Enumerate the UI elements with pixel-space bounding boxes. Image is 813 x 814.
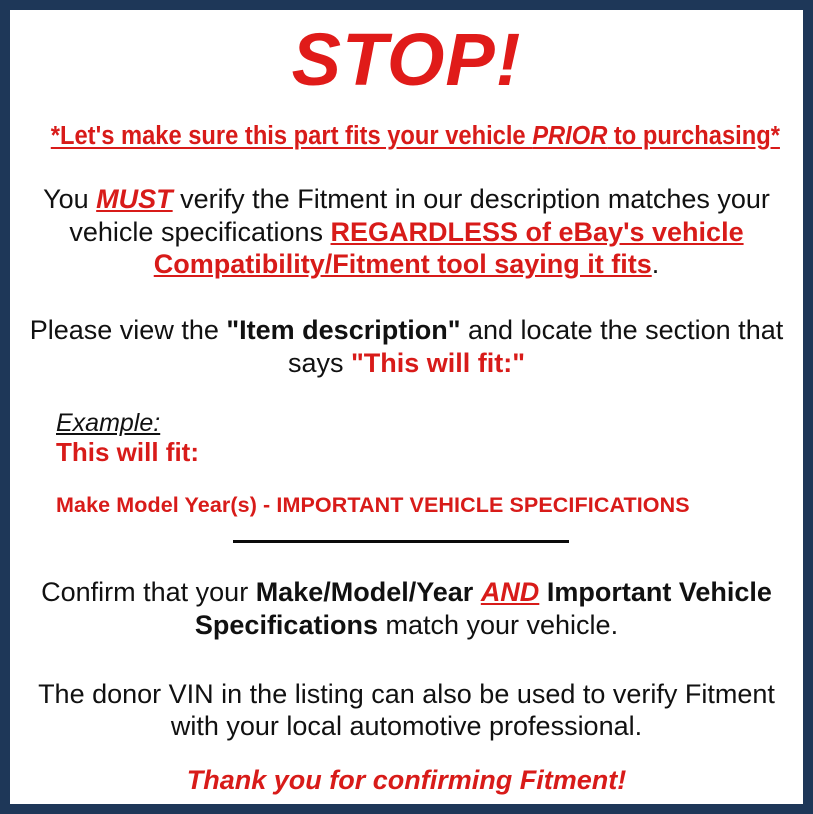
itemdesc-text-1: Please view the [30, 315, 227, 345]
stop-heading: STOP! [24, 20, 789, 100]
confirm-paragraph: Confirm that your Make/Model/Year AND Im… [24, 576, 789, 641]
example-block: Example: This will fit: Make Model Year(… [24, 409, 789, 518]
must-verify-paragraph: You MUST verify the Fitment in our descr… [24, 183, 789, 281]
must-para-period: . [652, 249, 660, 279]
and-emphasis: AND [481, 577, 540, 607]
this-will-fit-quote: "This will fit:" [351, 348, 525, 378]
item-description-paragraph: Please view the "Item description" and l… [24, 314, 789, 379]
example-this-will-fit-line: This will fit: [56, 438, 789, 467]
fitment-tagline: *Let's make sure this part fits your veh… [51, 122, 762, 151]
must-para-text-1: You [43, 184, 96, 214]
fitment-notice-card: STOP! *Let's make sure this part fits yo… [0, 0, 813, 814]
tagline-suffix: to purchasing* [607, 122, 780, 150]
donor-vin-paragraph: The donor VIN in the listing can also be… [24, 678, 789, 743]
tagline-prior-emphasis: PRIOR [532, 122, 607, 150]
section-divider [24, 540, 789, 552]
item-description-quote: "Item description" [226, 315, 460, 345]
confirm-text-1: Confirm that your [41, 577, 256, 607]
divider-line [233, 540, 569, 543]
confirm-text-2: match your vehicle. [378, 610, 618, 640]
example-vehicle-spec-line: Make Model Year(s) - IMPORTANT VEHICLE S… [56, 493, 789, 518]
thank-you-line: Thank you for confirming Fitment! [24, 765, 789, 796]
tagline-prefix: *Let's make sure this part fits your veh… [51, 122, 532, 150]
must-emphasis: MUST [96, 184, 173, 214]
make-model-year-emphasis: Make/Model/Year [256, 577, 474, 607]
example-label: Example: [56, 409, 789, 437]
